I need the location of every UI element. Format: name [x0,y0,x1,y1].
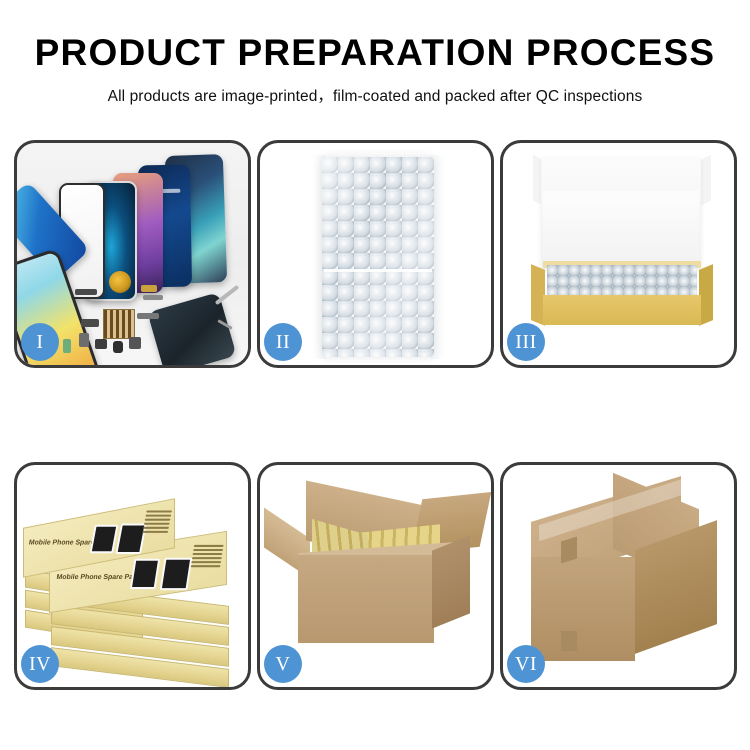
box-window-icon [130,559,160,589]
infographic-page: PRODUCT PREPARATION PROCESS All products… [0,0,750,750]
coil-part-icon [109,271,131,293]
box-spec-lines [190,545,223,569]
foam-sheet-icon [543,191,699,259]
page-title: PRODUCT PREPARATION PROCESS [0,34,750,73]
step-panel-1: I [14,140,251,368]
small-part-icon [137,313,159,319]
box-window-icon [90,525,119,554]
box-window-icon [160,558,193,590]
step-panel-2: II [257,140,494,368]
wrap-seam [324,269,432,272]
wrap-sheen [322,157,434,357]
small-part-icon [143,295,163,300]
box-spec-lines [142,511,172,535]
step-badge-2: II [264,323,302,361]
step-panel-4: Mobile Phone Spare Parts Mobile Phone Sp… [14,462,251,690]
step-badge-5: V [264,645,302,683]
carton-body-icon [298,555,434,643]
step-badge-4: IV [21,645,59,683]
box-window-icon [115,523,146,554]
carton-front-icon [531,557,635,661]
small-part-icon [141,285,157,292]
step-badge-6: VI [507,645,545,683]
step-panel-3: III [500,140,737,368]
connector-chip-icon [103,309,135,339]
page-subtitle: All products are image-printed，film-coat… [0,84,750,106]
small-part-icon [113,341,123,353]
step-badge-1: I [21,323,59,361]
bubble-wrap-icon [322,157,434,357]
step-panel-6: VI [500,462,737,690]
step-panel-5: V [257,462,494,690]
small-part-icon [95,339,107,349]
small-part-icon [81,319,99,327]
box-front-icon [543,295,701,325]
header: PRODUCT PREPARATION PROCESS All products… [0,0,750,106]
bubble-wrapped-item-icon [547,265,697,297]
small-part-icon [79,333,89,347]
carton-tab-icon [561,631,577,651]
steps-grid: I II [14,140,736,690]
small-part-icon [129,337,141,349]
box-side-icon [699,264,713,326]
carton-side-icon [432,535,470,628]
small-part-icon [63,339,71,353]
step-badge-3: III [507,323,545,361]
box-stack-icon: Mobile Phone Spare Parts Mobile Phone Sp… [23,483,245,679]
small-part-icon [75,289,97,295]
box-label: Mobile Phone Spare Parts [56,574,142,581]
